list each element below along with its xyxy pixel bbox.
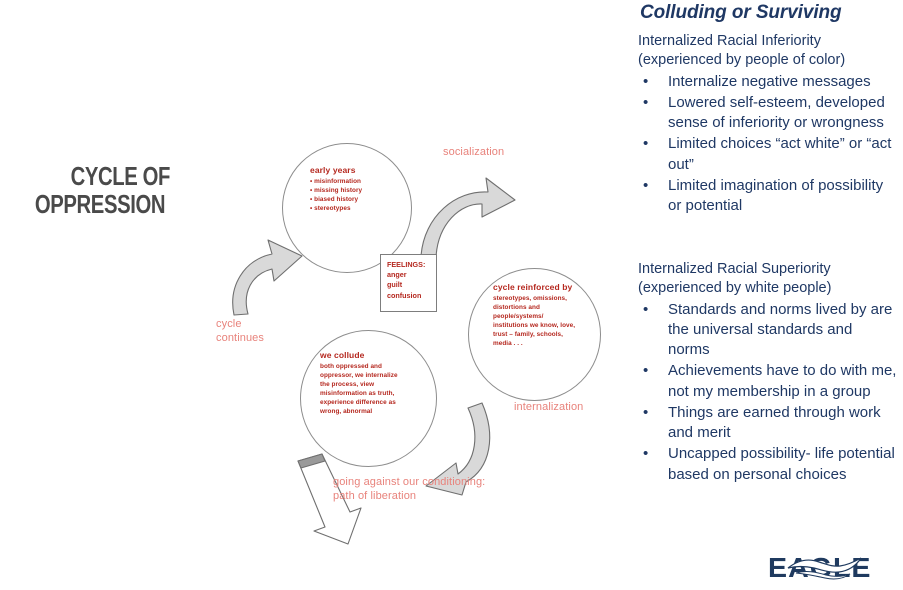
node-line: trust – family, schools,	[493, 330, 603, 339]
node-heading-cycle-reinforced: cycle reinforced by	[493, 282, 603, 293]
feelings-line: anger	[387, 270, 425, 280]
node-line: institutions we know, love,	[493, 321, 603, 330]
node-line: stereotypes, omissions,	[493, 294, 603, 303]
label-liberation-line: path of liberation	[333, 489, 485, 503]
node-bullets-early-years: • misinformation • missing history • bia…	[310, 177, 414, 213]
list-item-label: Things are earned through work and merit	[668, 404, 881, 441]
node-bullet: • stereotypes	[310, 204, 414, 213]
node-heading-early-years: early years	[310, 165, 414, 176]
list-item-label: Achievements have to do with me, not my …	[668, 362, 896, 399]
node-line: media . . .	[493, 339, 603, 348]
node-line: both oppressed and	[320, 362, 430, 371]
node-bullet: • missing history	[310, 186, 414, 195]
section-lead-line: Internalized Racial Superiority	[638, 260, 898, 279]
list-item: •Standards and norms lived by are the un…	[636, 300, 898, 361]
label-liberation-line: going against our conditioning:	[333, 475, 485, 489]
label-cycle-continues: cycle continues	[216, 317, 264, 345]
section-lead-inferiority: Internalized Racial Inferiority (experie…	[638, 32, 898, 71]
feelings-line: guilt	[387, 280, 425, 290]
bullet-icon: •	[643, 361, 648, 381]
bullet-icon: •	[643, 300, 648, 320]
node-text-we-collude: we collude both oppressed and oppressor,…	[320, 350, 430, 416]
node-line: misinformation as truth,	[320, 389, 430, 398]
node-lines-we-collude: both oppressed and oppressor, we interna…	[320, 362, 430, 417]
eagle-logo: EAGLE	[768, 552, 888, 582]
feelings-line: confusion	[387, 291, 425, 301]
list-item-label: Internalize negative messages	[668, 73, 871, 90]
list-item: •Lowered self-esteem, developed sense of…	[636, 93, 898, 134]
list-item: •Things are earned through work and meri…	[636, 403, 898, 444]
list-item-label: Lowered self-esteem, developed sense of …	[668, 94, 885, 131]
list-item-label: Uncapped possibility- life potential bas…	[668, 445, 895, 482]
label-internalization: internalization	[514, 400, 583, 414]
section-lead-line: (experienced by white people)	[638, 279, 898, 298]
section-lead-superiority: Internalized Racial Superiority (experie…	[638, 260, 898, 299]
bullet-icon: •	[643, 403, 648, 423]
section-lead-line: Internalized Racial Inferiority	[638, 32, 898, 51]
cycle-continues-arrow-icon	[233, 240, 302, 315]
node-lines-cycle-reinforced: stereotypes, omissions, distortions and …	[493, 294, 603, 349]
label-socialization-line: socialization	[443, 145, 504, 159]
page-title-line-1: CYCLE OF	[22, 162, 178, 190]
node-line: the process, view	[320, 380, 430, 389]
list-item-label: Limited choices “act white” or “act out”	[668, 135, 891, 172]
eagle-wordmark: EAGLE	[768, 552, 871, 584]
section-internalized-racial-inferiority: Internalized Racial Inferiority (experie…	[636, 32, 898, 217]
label-path-of-liberation: going against our conditioning: path of …	[333, 475, 485, 503]
list-item-label: Standards and norms lived by are the uni…	[668, 301, 892, 359]
label-cycle-continues-line: cycle	[216, 317, 264, 331]
bullet-icon: •	[643, 72, 648, 92]
node-bullet: • biased history	[310, 195, 414, 204]
section-lead-line: (experienced by people of color)	[638, 51, 898, 70]
list-item: •Achievements have to do with me, not my…	[636, 361, 898, 402]
node-line: experience difference as	[320, 398, 430, 407]
section-internalized-racial-superiority: Internalized Racial Superiority (experie…	[636, 260, 898, 486]
list-item: •Limited imagination of possibility or p…	[636, 176, 898, 217]
bullet-icon: •	[643, 93, 648, 113]
node-text-early-years: early years • misinformation • missing h…	[310, 165, 414, 213]
label-socialization: socialization	[443, 145, 504, 159]
page-title-line-2: OPPRESSION	[22, 190, 178, 218]
node-line: distortions and	[493, 303, 603, 312]
list-item-label: Limited imagination of possibility or po…	[668, 177, 883, 214]
label-cycle-continues-line: continues	[216, 331, 264, 345]
list-item: •Uncapped possibility- life potential ba…	[636, 444, 898, 485]
node-heading-we-collude: we collude	[320, 350, 430, 361]
bullet-icon: •	[643, 444, 648, 464]
label-internalization-line: internalization	[514, 400, 583, 414]
bullet-list-superiority: •Standards and norms lived by are the un…	[636, 300, 898, 485]
node-text-cycle-reinforced: cycle reinforced by stereotypes, omissio…	[493, 282, 603, 348]
page-title: CYCLE OF OPPRESSION	[22, 162, 178, 218]
bullet-icon: •	[643, 134, 648, 154]
feelings-line: FEELINGS:	[387, 260, 425, 270]
list-item: •Internalize negative messages	[636, 72, 898, 92]
bullet-list-inferiority: •Internalize negative messages •Lowered …	[636, 72, 898, 217]
node-line: oppressor, we internalize	[320, 371, 430, 380]
node-line: people/systems/	[493, 312, 603, 321]
bullet-icon: •	[643, 176, 648, 196]
panel-heading: Colluding or Surviving	[640, 2, 842, 24]
node-line: wrong, abnormal	[320, 407, 430, 416]
right-text-panel: Colluding or Surviving Internalized Raci…	[636, 0, 898, 590]
socialization-arrow-icon	[421, 178, 515, 257]
list-item: •Limited choices “act white” or “act out…	[636, 134, 898, 175]
node-bullet: • misinformation	[310, 177, 414, 186]
cycle-of-oppression-diagram: early years • misinformation • missing h…	[210, 120, 630, 560]
feelings-box-text: FEELINGS: anger guilt confusion	[387, 260, 425, 301]
